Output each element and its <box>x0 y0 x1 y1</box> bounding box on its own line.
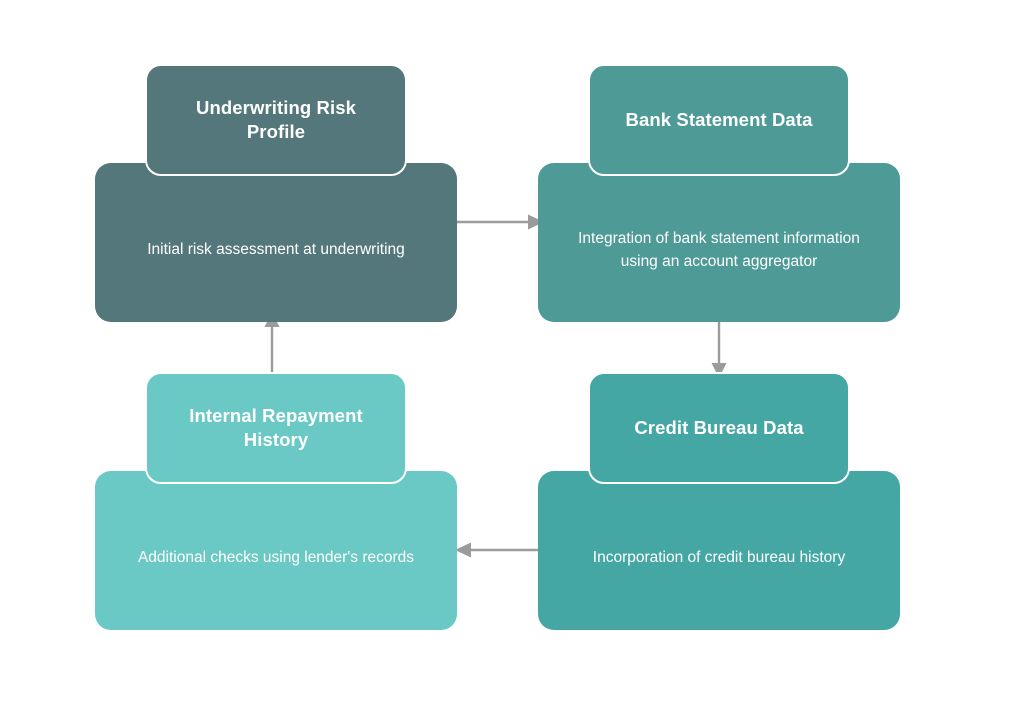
node-credit-bureau-data[interactable]: Incorporation of credit bureau history C… <box>538 372 900 630</box>
node-title: Bank Statement Data <box>626 108 813 132</box>
node-header: Underwriting Risk Profile <box>145 64 407 176</box>
node-description: Integration of bank statement informatio… <box>564 228 874 274</box>
arrow-left-icon <box>450 528 546 572</box>
node-title: Internal Repayment History <box>165 404 387 453</box>
diagram-canvas: Initial risk assessment at underwriting … <box>0 0 1024 703</box>
node-header: Credit Bureau Data <box>588 372 850 484</box>
node-internal-repayment-history[interactable]: Additional checks using lender's records… <box>95 372 457 630</box>
node-body: Incorporation of credit bureau history <box>538 471 900 630</box>
node-description: Incorporation of credit bureau history <box>593 547 845 570</box>
node-title: Credit Bureau Data <box>634 416 803 440</box>
node-description: Additional checks using lender's records <box>138 547 414 570</box>
node-body: Integration of bank statement informatio… <box>538 163 900 322</box>
node-body: Initial risk assessment at underwriting <box>95 163 457 322</box>
node-body: Additional checks using lender's records <box>95 471 457 630</box>
node-header: Internal Repayment History <box>145 372 407 484</box>
node-header: Bank Statement Data <box>588 64 850 176</box>
node-underwriting-risk-profile[interactable]: Initial risk assessment at underwriting … <box>95 64 457 322</box>
arrow-right-icon <box>455 200 547 244</box>
node-description: Initial risk assessment at underwriting <box>147 239 405 262</box>
node-title: Underwriting Risk Profile <box>165 96 387 145</box>
node-bank-statement-data[interactable]: Integration of bank statement informatio… <box>538 64 900 322</box>
